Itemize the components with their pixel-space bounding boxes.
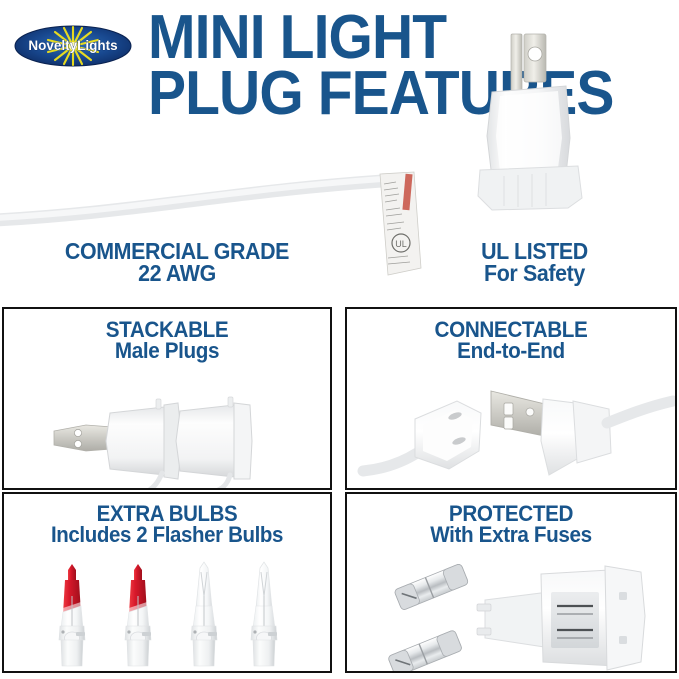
caption-ul-listed-line2: For Safety bbox=[458, 262, 611, 284]
caption-stackable-line2: Male Plugs bbox=[14, 340, 320, 361]
caption-ul-listed: UL LISTED For Safety bbox=[458, 240, 611, 285]
panel-protected: PROTECTED With Extra Fuses bbox=[345, 492, 677, 673]
caption-protected: PROTECTED With Extra Fuses bbox=[357, 503, 665, 546]
svg-text:UL: UL bbox=[395, 239, 407, 249]
bulbs-illustration bbox=[42, 556, 302, 668]
caption-ul-listed-line1: UL LISTED bbox=[458, 240, 611, 262]
ul-certification-tag: UL bbox=[374, 172, 430, 278]
infographic-sheet: NoveltyLights MINI LIGHT PLUG FEATURES bbox=[0, 0, 679, 679]
caption-connectable-line1: CONNECTABLE bbox=[357, 319, 665, 340]
panel-extra-bulbs: EXTRA BULBS Includes 2 Flasher Bulbs bbox=[2, 492, 332, 673]
caption-extra-bulbs-line1: EXTRA BULBS bbox=[15, 503, 318, 524]
caption-connectable-line2: End-to-End bbox=[357, 340, 665, 361]
end-to-end-connectors-illustration bbox=[363, 379, 673, 490]
caption-extra-bulbs-line2: Includes 2 Flasher Bulbs bbox=[15, 524, 318, 545]
caption-protected-line2: With Extra Fuses bbox=[357, 524, 665, 545]
fuses-illustration bbox=[373, 556, 673, 673]
caption-protected-line1: PROTECTED bbox=[357, 503, 665, 524]
male-plug-illustration bbox=[470, 18, 620, 218]
logo-wordmark: NoveltyLights bbox=[28, 38, 117, 53]
power-cord-illustration bbox=[0, 176, 416, 236]
stacked-male-plugs-illustration bbox=[52, 393, 292, 490]
caption-connectable: CONNECTABLE End-to-End bbox=[357, 319, 665, 362]
caption-commercial-grade: COMMERCIAL GRADE 22 AWG bbox=[51, 240, 302, 285]
caption-extra-bulbs: EXTRA BULBS Includes 2 Flasher Bulbs bbox=[15, 503, 318, 546]
panel-connectable: CONNECTABLE End-to-End bbox=[345, 307, 677, 490]
caption-stackable: STACKABLE Male Plugs bbox=[14, 319, 320, 362]
panel-stackable: STACKABLE Male Plugs bbox=[2, 307, 332, 490]
panel-header: NoveltyLights MINI LIGHT PLUG FEATURES bbox=[0, 0, 679, 307]
caption-commercial-grade-line2: 22 AWG bbox=[51, 262, 302, 284]
caption-stackable-line1: STACKABLE bbox=[14, 319, 320, 340]
caption-commercial-grade-line1: COMMERCIAL GRADE bbox=[51, 240, 302, 262]
brand-logo: NoveltyLights bbox=[14, 24, 132, 68]
